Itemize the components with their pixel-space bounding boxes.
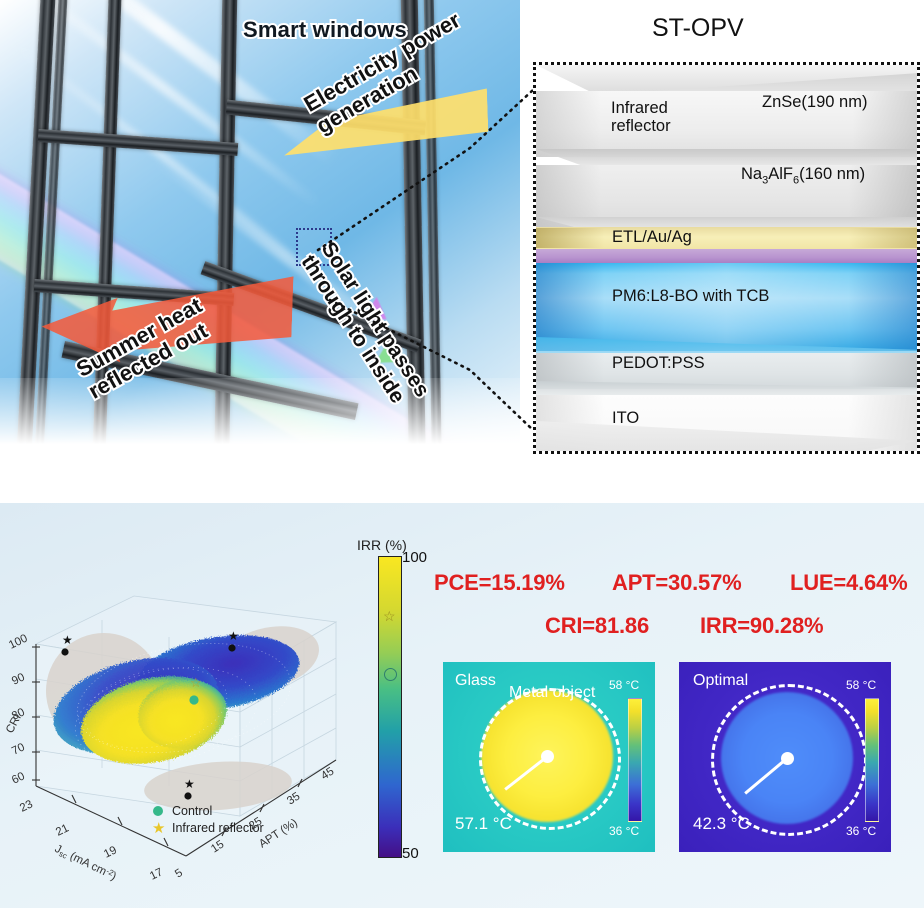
colorbar	[378, 556, 402, 858]
control-marker	[189, 695, 198, 704]
colorbar-min-label: 50	[402, 845, 419, 862]
figure-root: Smart windows Electricity power generati…	[0, 0, 924, 908]
svg-text:★: ★	[228, 629, 239, 643]
thermal-image-glass: Glass Metal object 57.1 °C 58 °C 36 °C	[443, 662, 655, 852]
colorbar-circle-marker	[384, 668, 397, 681]
label-na3alf6: Na3AlF6(160 nm)	[741, 165, 865, 187]
svg-text:17: 17	[148, 866, 165, 882]
layer-shade	[536, 228, 917, 248]
metric-apt: APT=30.57%	[612, 570, 741, 596]
thermal-colorbar-max: 58 °C	[846, 678, 876, 692]
nm-text: (160 nm)	[799, 165, 865, 183]
svg-text:60: 60	[10, 770, 27, 786]
svg-text:90: 90	[10, 671, 27, 687]
svg-text:5: 5	[173, 867, 185, 881]
layer-purple	[536, 249, 917, 263]
svg-text:19: 19	[102, 844, 119, 860]
thermal-measure-point	[541, 750, 554, 763]
svg-text:★: ★	[62, 633, 73, 647]
stopv-title: ST-OPV	[652, 14, 744, 43]
colorbar-max-label: 100	[402, 549, 427, 566]
label-infrared-reflector: Infrared reflector	[611, 99, 671, 136]
legend-marker-control	[153, 806, 163, 816]
colorbar-star-marker: ☆	[383, 608, 396, 625]
thermal-value-optimal: 42.3 °C	[693, 814, 750, 834]
label-znse: ZnSe(190 nm)	[762, 93, 867, 111]
svg-text:21: 21	[54, 822, 71, 838]
scatter-svg: ☆ ★ ★ ★	[6, 548, 362, 894]
legend-marker-infrared: ★	[152, 820, 165, 837]
svg-text:70: 70	[10, 741, 27, 757]
metric-cri: CRI=81.86	[545, 613, 649, 639]
thermal-panel-label-optimal: Optimal	[693, 672, 748, 690]
colorbar-title: IRR (%)	[357, 537, 407, 553]
label-active-layer: PM6:L8-BO with TCB	[612, 287, 769, 305]
infrared-line2: reflector	[611, 117, 671, 135]
legend-label-infrared: Infrared reflector	[172, 821, 264, 835]
smart-window-illustration: Smart windows Electricity power generati…	[0, 0, 520, 470]
thermal-image-optimal: Optimal 42.3 °C 58 °C 36 °C	[679, 662, 891, 852]
metric-lue: LUE=4.64%	[790, 570, 907, 596]
thermal-measure-point	[781, 752, 794, 765]
svg-text:100: 100	[7, 632, 30, 651]
metric-irr: IRR=90.28%	[700, 613, 823, 639]
legend-label-control: Control	[172, 804, 212, 818]
label-etl-au-ag: ETL/Au/Ag	[612, 228, 692, 246]
metric-pce: PCE=15.19%	[434, 570, 565, 596]
thermal-object-label: Metal object	[509, 684, 595, 702]
thermal-colorbar-max: 58 °C	[609, 678, 639, 692]
svg-text:23: 23	[18, 798, 35, 814]
label-ito: ITO	[612, 409, 639, 427]
thermal-colorbar	[628, 698, 642, 822]
thermal-colorbar-min: 36 °C	[609, 824, 639, 838]
infrared-line1: Infrared	[611, 99, 668, 117]
layer-shade	[536, 263, 917, 351]
thermal-colorbar-min: 36 °C	[846, 824, 876, 838]
thermal-value-glass: 57.1 °C	[455, 814, 512, 834]
stopv-stack-diagram: Infrared reflector ZnSe(190 nm) Na3AlF6(…	[533, 62, 920, 454]
thermal-colorbar	[865, 698, 879, 822]
infrared-reflector-marker: ☆	[190, 675, 202, 690]
svg-text:35: 35	[285, 790, 302, 807]
thermal-panel-label-glass: Glass	[455, 672, 496, 690]
smart-windows-title: Smart windows	[243, 17, 407, 43]
na-text: Na	[741, 165, 762, 183]
label-pedot-pss: PEDOT:PSS	[612, 354, 705, 372]
svg-text:★: ★	[184, 777, 195, 791]
alf-text: AlF	[768, 165, 793, 183]
scatter-3d-chart: ☆ ★ ★ ★	[6, 548, 362, 894]
svg-text:15: 15	[209, 838, 226, 855]
